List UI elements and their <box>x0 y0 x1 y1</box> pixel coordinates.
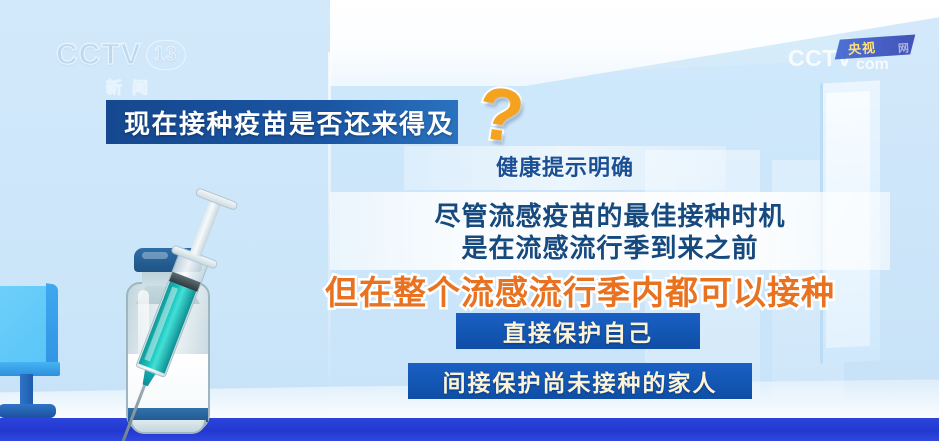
badge-direct-protection-label: 直接保护自己 <box>503 314 653 348</box>
chair-base <box>0 404 56 418</box>
cctv-channel-number: 13 <box>146 40 186 70</box>
cctv-channel-logo: CCTV 13 新闻 <box>56 38 208 94</box>
cctv-com-watermark: CCTV 央视 网 com <box>788 36 918 74</box>
badge-indirect-protection: 间接保护尚未接种的家人 <box>408 363 752 399</box>
watermark-com-text: com <box>856 56 889 74</box>
chair-backrest-edge <box>46 283 58 372</box>
headline-banner: 现在接种疫苗是否还来得及 <box>106 100 458 144</box>
lead-text: 健康提示明确 <box>404 150 726 182</box>
cctv-channel-subtitle: 新闻 <box>56 74 208 98</box>
syringe-plunger-rod <box>190 200 221 257</box>
chair-illustration <box>0 286 70 416</box>
cctv-logo-main: CCTV 13 <box>56 38 208 72</box>
chair-stem <box>20 374 33 408</box>
headline-text: 现在接种疫苗是否还来得及 <box>106 104 454 141</box>
watermark-cn-suffix: 网 <box>897 40 909 57</box>
watermark-cn-text: 央视 <box>847 37 876 58</box>
broadcast-frame: CCTV 13 新闻 CCTV 央视 网 com 现在接种疫苗是否还来得及 ? … <box>0 0 939 441</box>
cctv-logo-text: CCTV <box>56 38 142 72</box>
badge-indirect-protection-label: 间接保护尚未接种的家人 <box>443 364 718 398</box>
badge-direct-protection: 直接保护自己 <box>456 313 700 349</box>
body-line-two: 是在流感流行季到来之前 <box>330 228 890 265</box>
emphasis-text: 但在整个流感流行季内都可以接种 <box>280 266 880 314</box>
